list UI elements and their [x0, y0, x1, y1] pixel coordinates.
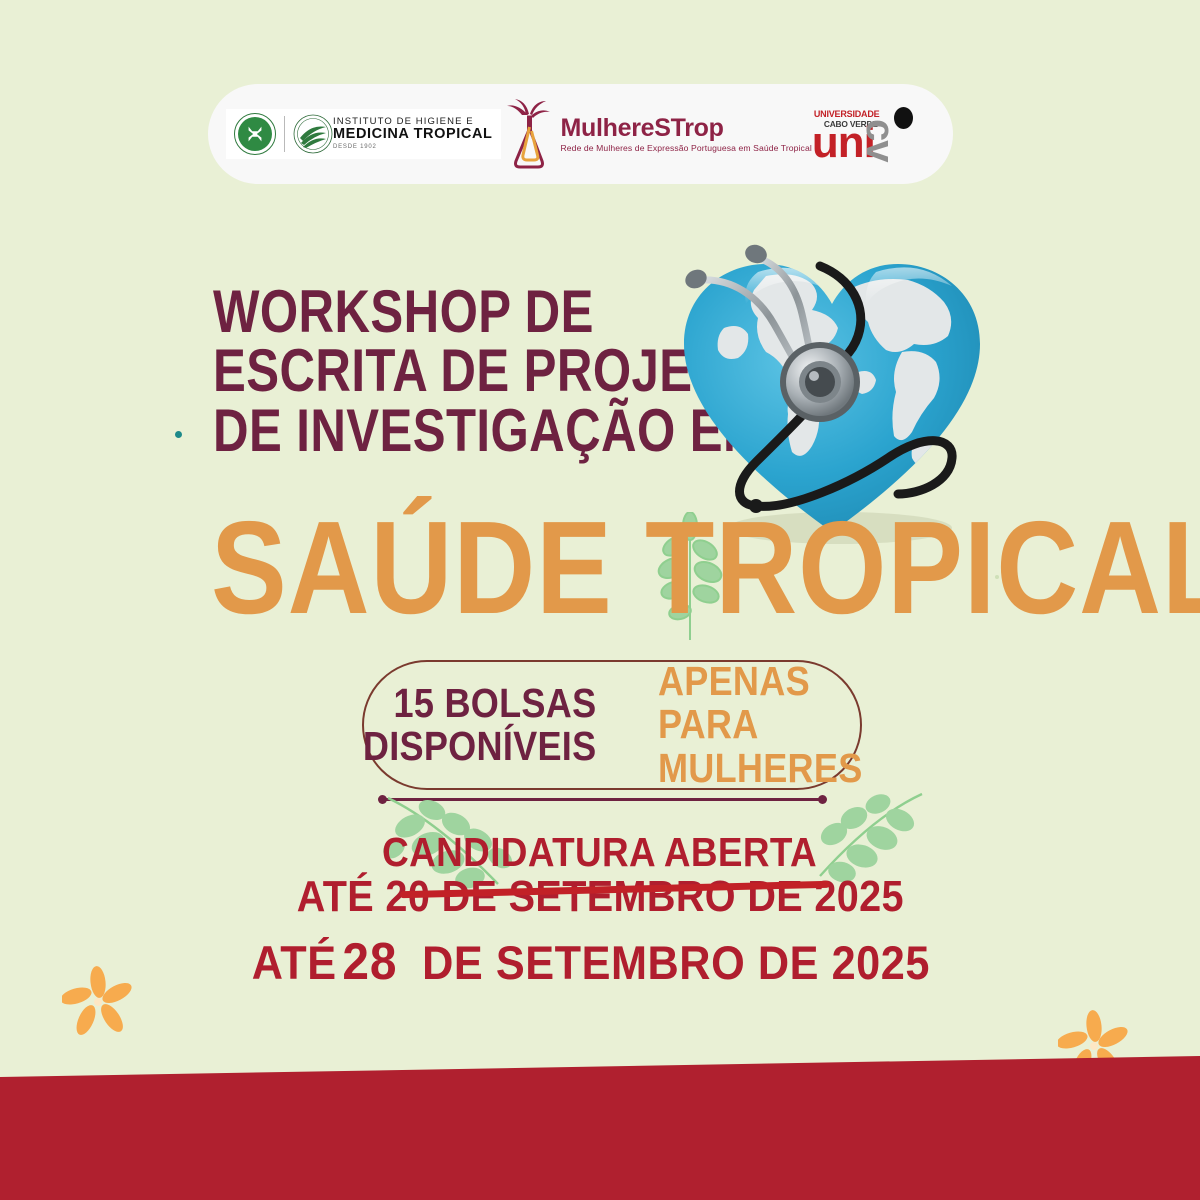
- women-only-block: APENAS PARA MULHERES: [658, 660, 863, 790]
- palm-tree-flask-logo-icon: [501, 97, 557, 171]
- nova-university-seal-icon: [234, 113, 276, 155]
- women-line-2: MULHERES: [658, 747, 863, 790]
- mulherestrop-name: MulhereSTrop: [561, 115, 812, 143]
- ihmt-seal-glyph: [293, 114, 333, 154]
- new-deadline: ATÉ 28 DE SETEMBRO DE 2025: [0, 932, 1200, 992]
- logo-ihmt: INSTITUTO DE HIGIENE E MEDICINA TROPICAL…: [226, 109, 501, 159]
- partner-logo-bar: INSTITUTO DE HIGIENE E MEDICINA TROPICAL…: [208, 84, 953, 184]
- unicv-suffix: cv: [860, 119, 900, 162]
- bolsas-pill-content: 15 BOLSAS DISPONÍVEIS APENAS PARA MULHER…: [362, 660, 862, 790]
- old-deadline: ATÉ 20 DE SETEMBRO DE 2025: [0, 872, 1200, 922]
- application-status-text: CANDIDATURA ABERTA: [383, 832, 818, 874]
- mulherestrop-tagline: Rede de Mulheres de Expressão Portuguesa…: [561, 144, 812, 153]
- decorative-dot-teal: [175, 431, 182, 438]
- logo-mulherestrop: MulhereSTrop Rede de Mulheres de Express…: [501, 97, 812, 171]
- new-deadline-suffix: DE SETEMBRO DE 2025: [422, 935, 930, 990]
- page-subtitle: SAÚDE TROPICAL: [211, 502, 1200, 634]
- ihmt-line2: MEDICINA TROPICAL: [333, 127, 493, 142]
- nova-seal-glyph: [244, 123, 266, 145]
- poster-canvas: INSTITUTO DE HIGIENE E MEDICINA TROPICAL…: [0, 0, 1200, 1200]
- new-deadline-prefix: ATÉ: [252, 935, 337, 990]
- new-deadline-day: 28: [343, 932, 398, 992]
- ihmt-line3: DESDE 1902: [333, 144, 493, 150]
- ihmt-seal-icon: [293, 114, 333, 154]
- logo-divider: [284, 116, 285, 152]
- logo-unicv: UNIVERSIDADE CABO VERDE uni cv: [812, 103, 935, 165]
- bolsas-count-block: 15 BOLSAS DISPONÍVEIS: [363, 682, 596, 769]
- bottom-red-band: [0, 1050, 1200, 1200]
- bolsas-line-2: DISPONÍVEIS: [363, 725, 596, 768]
- bolsas-line-1: 15 BOLSAS: [363, 682, 596, 725]
- women-line-1: APENAS PARA: [658, 660, 863, 747]
- old-deadline-text: ATÉ 20 DE SETEMBRO DE 2025: [296, 872, 903, 922]
- application-status: CANDIDATURA ABERTA: [0, 832, 1200, 874]
